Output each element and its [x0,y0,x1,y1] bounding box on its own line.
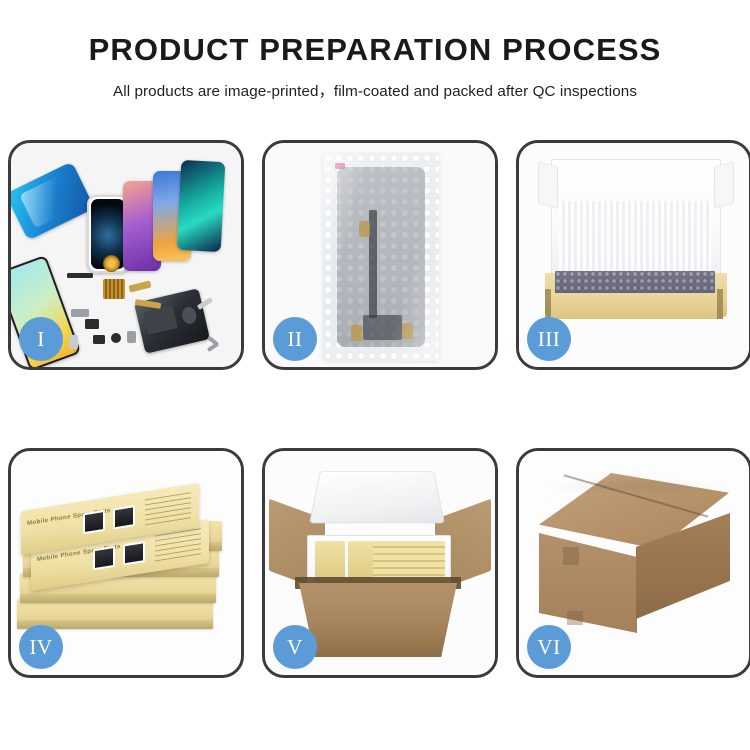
step-4-photo: Mobile Phone Spare Parts Mobile Phone Sp… [11,451,241,675]
wireless-charging-coil-part [103,255,120,272]
process-step-card-1: I [8,140,244,370]
step-badge-5: V [273,625,317,669]
spare-part-camera [93,335,105,344]
page-title: PRODUCT PREPARATION PROCESS [0,34,750,67]
product-preparation-page: PRODUCT PREPARATION PROCESS All products… [0,0,750,750]
spare-part-connector [71,309,89,317]
process-step-card-3: III [516,140,750,370]
carton-body [299,583,457,657]
inner-box-right-edge [717,289,723,319]
step-badge-3: III [527,317,571,361]
retail-box-product-window [113,505,135,529]
sealed-carton-shadow [543,477,723,495]
inner-box-front-panel [549,293,723,319]
step-badge-4: IV [19,625,63,669]
process-step-card-6: VI [516,448,750,678]
spare-part-button [111,333,121,343]
step-5-photo: V [265,451,495,675]
phone-screen-teal [177,160,226,252]
lcd-protective-tape [351,325,362,341]
lcd-connector-block [363,315,402,340]
spare-part-strip [67,273,93,278]
step-1-photo: I [11,143,241,367]
lcd-screen-inside-bag [337,167,425,347]
sealed-carton-left-face [539,533,637,633]
process-step-card-2: II [262,140,498,370]
retail-box [17,599,213,629]
screwdriver-tool [207,342,219,352]
retail-box-product-window [93,546,115,570]
spare-part-chip [85,319,99,329]
step-badge-2: II [273,317,317,361]
page-header: PRODUCT PREPARATION PROCESS All products… [0,0,750,101]
grid-component-part [103,279,125,299]
process-step-card-4: Mobile Phone Spare Parts Mobile Phone Sp… [8,448,244,678]
spare-part-sim-tray [69,335,78,349]
sealed-carton-tab [567,611,583,625]
retail-box-spec-lines [145,492,191,527]
logic-board-part [134,288,210,354]
inner-box-left-edge [545,289,551,319]
page-subtitle: All products are image-printed，film-coat… [0,79,750,101]
spare-part-speaker [127,331,136,343]
lcd-protective-tape [402,323,413,339]
step-3-photo: III [519,143,749,367]
step-badge-6: VI [527,625,571,669]
retail-box-product-window [123,541,145,565]
retail-box-product-window [83,510,105,534]
lcd-protective-tape [359,221,370,237]
retail-box-spec-lines [155,528,201,563]
process-step-card-5: V [262,448,498,678]
phone-back-panel-blue [11,161,95,240]
step-badge-1: I [19,317,63,361]
flex-cable-part [128,280,151,292]
sealed-carton-tab [563,547,579,565]
step-2-photo: II [265,143,495,367]
bubble-wrap-bag [323,153,439,361]
step-6-photo: VI [519,451,749,675]
foam-box-lid [309,471,445,523]
process-step-grid: I II [8,140,742,678]
